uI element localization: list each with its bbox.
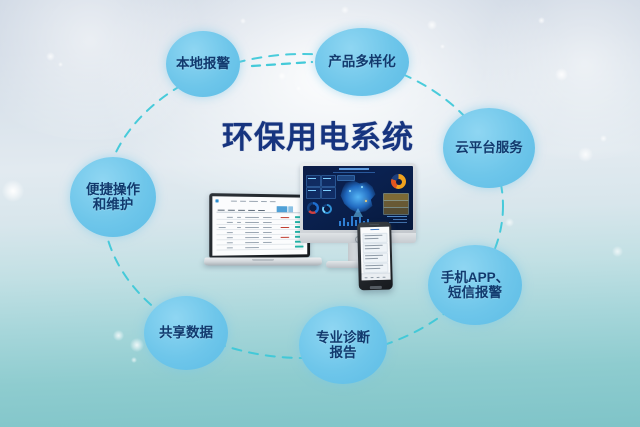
laptop-toolbar-item (261, 201, 267, 202)
dashboard-right-metric (393, 219, 407, 220)
laptop-toolbar-item (240, 201, 246, 202)
dashboard-metric (308, 178, 316, 179)
dashboard-metric (323, 178, 331, 179)
node-cloud-platform-service[interactable]: 云平台服务 (443, 108, 535, 188)
node-local-alarm[interactable]: 本地报警 (166, 31, 240, 97)
laptop-screen (212, 196, 307, 255)
node-easy-ops-line2: 和维护 (82, 197, 144, 212)
dashboard-donut-chart (307, 202, 319, 214)
laptop-toolbar-dot (215, 199, 218, 202)
dashboard-map-marker (365, 200, 367, 202)
node-shared-data-label: 共享数据 (155, 325, 217, 340)
dashboard-bar (351, 216, 353, 226)
phone-tabbar-item[interactable] (370, 277, 373, 278)
laptop-toolbar-item (270, 201, 276, 202)
node-diagnostic-line2: 报告 (312, 345, 374, 360)
poster-canvas: 环保用电系统 本地报警 产品多样化 云平台服务 手机APP、 短信报警 专业诊断… (0, 0, 640, 427)
laptop-toolbar-item (249, 201, 258, 203)
node-mobile-app-sms-alarm[interactable]: 手机APP、 短信报警 (428, 245, 522, 325)
dashboard-bar (339, 221, 341, 226)
dashboard-bar (343, 218, 345, 226)
dashboard-panel-left (306, 187, 321, 199)
node-mobile-app-line2: 短信报警 (437, 285, 513, 300)
phone-home-button[interactable] (370, 286, 382, 289)
dashboard-panel-left (321, 187, 336, 199)
dashboard-map-marker (361, 186, 363, 188)
dashboard-right-metric (387, 216, 407, 217)
dashboard-panel-right (383, 207, 409, 215)
node-local-alarm-label: 本地报警 (172, 56, 234, 71)
node-mobile-app-line1: 手机APP、 (437, 270, 513, 285)
monitor-screen (303, 166, 413, 230)
phone-tabbar-item[interactable] (364, 277, 367, 278)
dashboard-map-marker (349, 190, 351, 192)
dashboard-bar (347, 222, 349, 226)
phone-header-title (370, 229, 379, 230)
laptop-toolbar-item (231, 201, 237, 202)
dashboard-metric (308, 190, 316, 191)
dashboard-bar (355, 220, 357, 226)
phone-earpiece (369, 223, 379, 225)
dashboard-center-label (337, 175, 355, 181)
node-professional-diagnostic-report[interactable]: 专业诊断 报告 (299, 306, 387, 384)
smartphone (357, 222, 393, 291)
dashboard-metric (323, 190, 331, 191)
phone-screen (360, 227, 390, 281)
phone-tabbar-item[interactable] (382, 276, 385, 277)
dashboard-panel-left (306, 175, 321, 187)
dashboard-title-bar (333, 172, 375, 173)
node-product-diversification[interactable]: 产品多样化 (315, 28, 409, 96)
dashboard-right-metric (389, 222, 407, 223)
node-easy-ops-line1: 便捷操作 (82, 182, 144, 197)
dashboard-donut-chart (322, 204, 332, 214)
page-title: 环保用电系统 (222, 112, 414, 157)
phone-tabbar-item[interactable] (376, 277, 379, 278)
device-cluster (190, 160, 440, 310)
laptop-trackpad-notch (252, 259, 274, 261)
dashboard-title-bar (339, 168, 369, 170)
laptop-table-row (217, 226, 304, 230)
dashboard-map-beam (353, 208, 363, 217)
node-product-diversification-label: 产品多样化 (324, 54, 400, 69)
dashboard-gauge-ring (391, 174, 406, 189)
laptop-lid (209, 193, 310, 259)
node-easy-operation-maintenance[interactable]: 便捷操作 和维护 (70, 157, 156, 237)
node-cloud-platform-service-label: 云平台服务 (451, 140, 527, 155)
dashboard-panel-left (321, 175, 336, 187)
node-diagnostic-line1: 专业诊断 (312, 330, 374, 345)
